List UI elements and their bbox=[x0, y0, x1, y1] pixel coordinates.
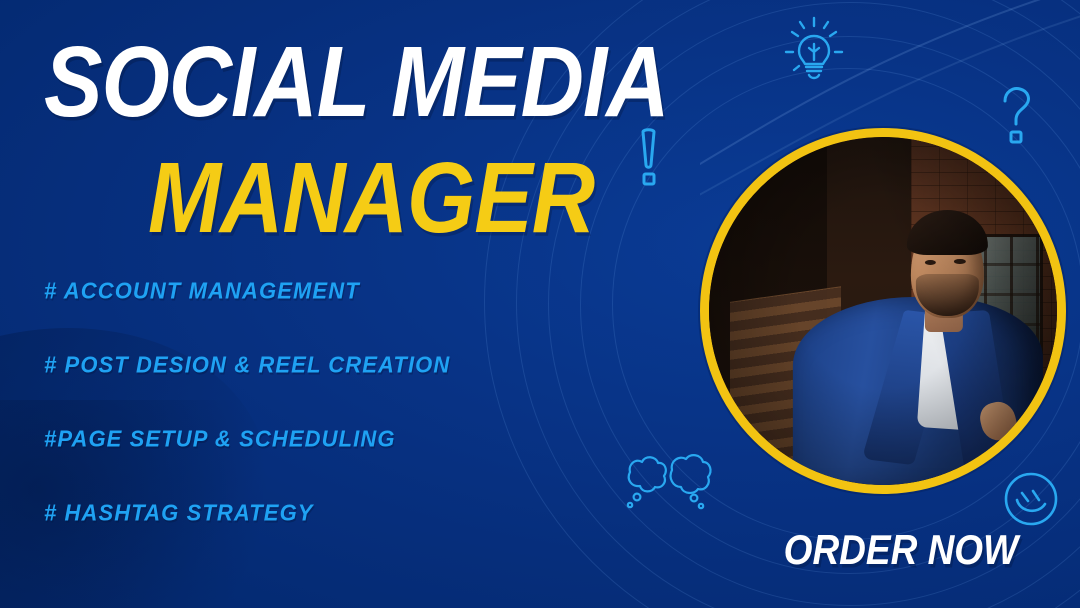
order-now-label[interactable]: ORDER NOW bbox=[784, 527, 1018, 574]
list-item: #PAGE SETUP & SCHEDULING bbox=[44, 425, 644, 453]
promo-banner: SOCIAL MEDIA MANAGER # ACCOUNT MANAGEMEN… bbox=[0, 0, 1080, 608]
list-item: # POST DESION & REEL CREATION bbox=[44, 351, 644, 379]
feature-list: # ACCOUNT MANAGEMENT # POST DESION & REE… bbox=[44, 278, 644, 526]
photo-side-shadow bbox=[709, 137, 1057, 485]
portrait-avatar bbox=[700, 128, 1066, 494]
portrait-photo bbox=[709, 137, 1057, 485]
page-title-secondary: MANAGER bbox=[148, 152, 736, 247]
list-item: # HASHTAG STRATEGY bbox=[44, 499, 644, 527]
list-item: # ACCOUNT MANAGEMENT bbox=[44, 277, 644, 305]
page-title-primary: SOCIAL MEDIA bbox=[44, 36, 738, 131]
lightbulb-icon bbox=[780, 14, 848, 86]
headline-block: SOCIAL MEDIA MANAGER bbox=[44, 36, 724, 233]
